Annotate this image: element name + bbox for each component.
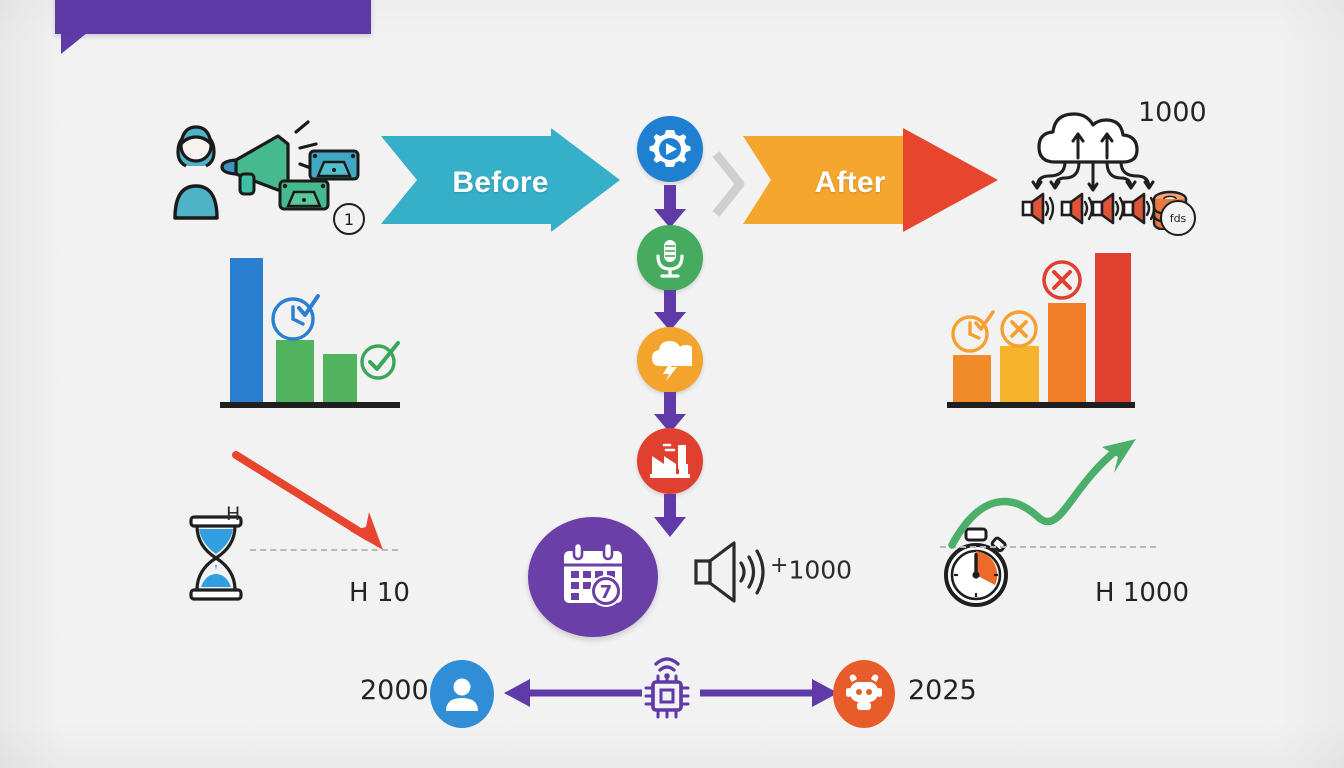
speaker-icon-2: [1062, 194, 1092, 223]
right-metric-label: H 1000: [1095, 578, 1189, 608]
timeline-end-year: 2025: [908, 675, 977, 706]
speaker-icon-3: [1093, 194, 1123, 223]
after-arrow[interactable]: After: [743, 128, 998, 237]
down-trend-arrow: [228, 445, 393, 565]
speaker-icon-1: [1023, 194, 1053, 223]
top-purple-banner: [55, 0, 371, 34]
speaker-count-label: +1000: [770, 553, 852, 584]
speaker-count-value: 1000: [788, 555, 852, 584]
chart-baseline: [947, 402, 1135, 408]
after-label: After: [815, 166, 886, 200]
clock-check-icon: [268, 290, 322, 349]
calendar-icon[interactable]: 7: [528, 517, 658, 637]
speaker-waves-icon: [694, 541, 776, 608]
timeline-start-year: 2000: [360, 675, 429, 706]
robot-icon[interactable]: [833, 660, 895, 728]
pipeline-connector-4: [652, 494, 688, 543]
before-arrow[interactable]: Before: [381, 128, 620, 237]
bar-4: [1095, 253, 1131, 402]
step-badge-1: 1: [333, 203, 365, 235]
gear-play-icon[interactable]: [637, 116, 703, 182]
chip-wifi-icon: [640, 650, 694, 727]
cloud-value-label: 1000: [1138, 97, 1207, 128]
bar-3: [323, 354, 357, 402]
calendar-badge: 7: [600, 582, 613, 603]
chart-baseline: [220, 402, 400, 408]
banner-tail: [61, 33, 87, 54]
bar-1: [953, 355, 991, 402]
timeline-right-arrow: [700, 676, 838, 715]
left-metric-label: H 10: [349, 578, 410, 608]
infographic-canvas: 1 Before After: [0, 0, 1344, 768]
plus-sign: +: [770, 553, 788, 578]
cloud-lightning-icon[interactable]: [637, 327, 703, 393]
check-circle-icon: [358, 338, 402, 387]
bar-2: [276, 340, 314, 402]
factory-icon[interactable]: [637, 428, 703, 494]
microphone-icon[interactable]: [637, 225, 703, 291]
bar-3: [1048, 303, 1086, 402]
up-trend-arrow: [942, 435, 1147, 560]
speaker-icon-4: [1124, 194, 1154, 223]
clock-icon-small: [948, 307, 998, 362]
x-circle-icon-1: [998, 308, 1040, 355]
before-label: Before: [452, 166, 548, 200]
x-circle-icon-2: [1040, 258, 1084, 307]
bar-1: [230, 258, 263, 402]
person-avatar-icon[interactable]: [430, 660, 494, 728]
timeline-left-arrow: [504, 676, 642, 715]
database-badge: fds: [1160, 200, 1196, 236]
